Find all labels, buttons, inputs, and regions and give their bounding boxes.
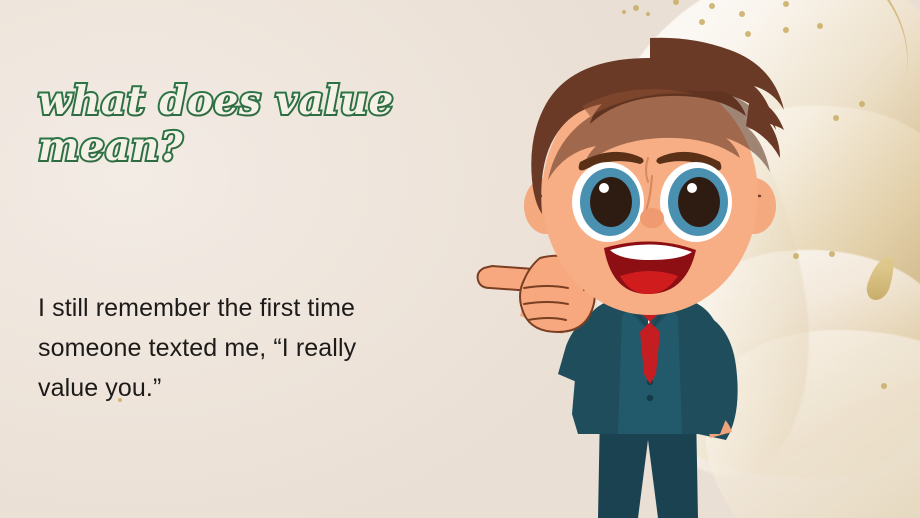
confetti-dot <box>833 115 839 121</box>
vest-button-3 <box>647 395 653 401</box>
page-title-line-1: what does value <box>38 78 394 124</box>
left-eye-pupil <box>590 177 632 227</box>
page-title: what does value mean? <box>38 78 468 170</box>
confetti-dot <box>881 383 887 389</box>
confetti-dot <box>783 1 789 7</box>
left-eye-highlight <box>599 183 609 193</box>
body-line-1: I still remember the first time <box>38 294 355 322</box>
right-eye-highlight <box>687 183 697 193</box>
right-eye-pupil <box>678 177 720 227</box>
confetti-dot <box>859 101 865 107</box>
body-line-3: value you.” <box>38 374 161 402</box>
confetti-dot <box>709 3 715 9</box>
character-svg <box>462 10 822 518</box>
character-illustration <box>462 10 822 518</box>
slide-canvas: what does value mean? I still remember t… <box>0 0 920 518</box>
nose-tip <box>640 208 664 228</box>
confetti-dot <box>829 251 835 257</box>
right-eye <box>660 162 732 242</box>
body-paragraph: I still remember the first time someone … <box>38 288 438 408</box>
body-line-2: someone texted me, “I really <box>38 334 356 362</box>
left-eye <box>572 162 644 242</box>
page-title-line-2: mean? <box>38 124 183 170</box>
